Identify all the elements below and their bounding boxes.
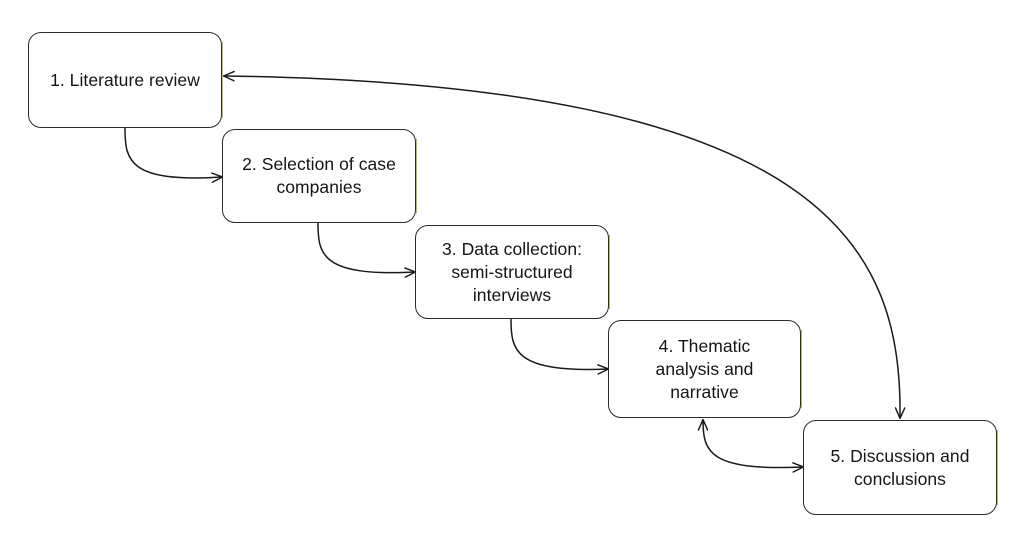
node-step-4[interactable]: 4. Thematic analysis and narrative bbox=[608, 320, 801, 418]
edge-step-2-to-step-3 bbox=[318, 223, 415, 273]
node-step-3[interactable]: 3. Data collection: semi-structured inte… bbox=[415, 225, 609, 319]
node-step-2[interactable]: 2. Selection of case companies bbox=[222, 129, 416, 223]
node-step-1[interactable]: 1. Literature review bbox=[28, 32, 222, 128]
edge-step-4-to-step-5 bbox=[703, 420, 803, 468]
node-step-1-label: 1. Literature review bbox=[41, 69, 209, 92]
node-step-4-label: 4. Thematic analysis and narrative bbox=[647, 335, 763, 404]
edge-step-3-to-step-4 bbox=[511, 319, 608, 369]
node-step-5-label: 5. Discussion and conclusions bbox=[822, 445, 979, 491]
node-step-2-label: 2. Selection of case companies bbox=[233, 153, 405, 199]
edge-step-1-to-step-2 bbox=[125, 128, 222, 178]
node-step-3-label: 3. Data collection: semi-structured inte… bbox=[433, 238, 591, 307]
node-step-5[interactable]: 5. Discussion and conclusions bbox=[803, 420, 997, 515]
flowchart-canvas: 1. Literature review 2. Selection of cas… bbox=[0, 0, 1015, 535]
